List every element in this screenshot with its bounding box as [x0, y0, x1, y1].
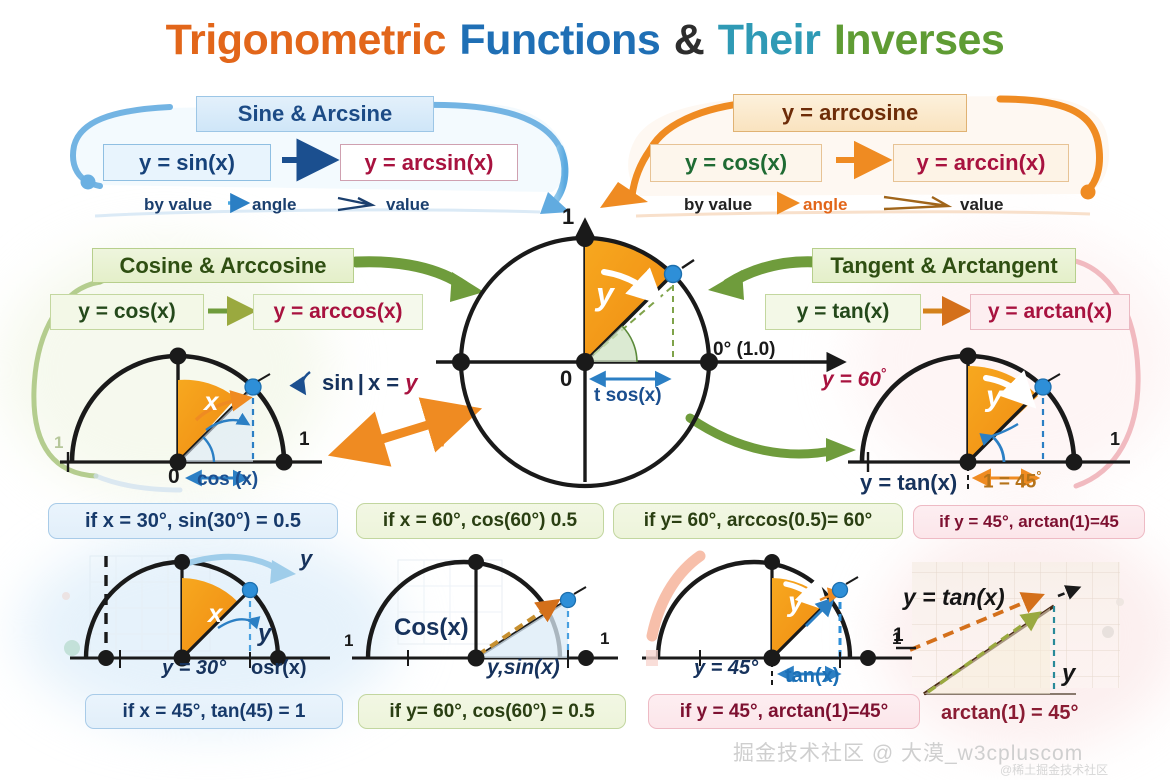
left-diagram-sector-label: x — [204, 388, 218, 414]
formula-pill-mid-2-label: if x = 60°, cos(60°) 0.5 — [383, 510, 577, 532]
bottom-d1-angle-text: y = 30° — [162, 657, 226, 679]
tangent-panel-header-label: Tangent & Arctangent — [830, 253, 1057, 279]
formula-pill-bottom-2-label: if y= 60°, cos(60°) = 0.5 — [389, 701, 594, 723]
formula-pill-mid-2[interactable]: if x = 60°, cos(60°) 0.5 — [356, 503, 604, 539]
cos-formula-label: y = cos(x) — [78, 300, 175, 324]
arccos-formula-box[interactable]: y = arccos(x) — [253, 294, 423, 330]
circle-right-label: 0° (1.0) — [713, 340, 776, 359]
circle-origin-label: 0 — [560, 368, 572, 390]
left-diagram-sin-equation: sin|x = y — [322, 372, 418, 394]
bottom-d3-tan-label: tan(x) — [785, 666, 839, 686]
watermark-secondary-text: @稀土掘金技术社区 — [1000, 763, 1108, 777]
circle-top-label-text: 1 — [562, 204, 574, 229]
left-diagram-sin-text: sin — [322, 370, 354, 395]
bottom-d4-arctan-text: arctan(1) = 45° — [941, 702, 1079, 724]
arccos-formula-label: y = arccos(x) — [274, 300, 403, 324]
watermark-secondary: @稀土掘金技术社区 — [1000, 761, 1108, 778]
bottom-d2-one-label: 1 — [600, 630, 609, 647]
bottom-d2-cos-label: Cos(x) — [394, 616, 469, 640]
left-diagram-origin-label: 0 — [168, 466, 180, 487]
left-diagram-left-text: 1 — [54, 433, 63, 452]
right-diagram-sector-text: y — [986, 380, 1003, 413]
bottom-d1-y-text: y — [258, 620, 271, 647]
formula-pill-bottom-3-label: if y = 45°, arctan(1)=45° — [680, 701, 888, 723]
circle-sector-label-text: y — [596, 276, 614, 312]
formula-pill-mid-3[interactable]: if y= 60°, arccos(0.5)= 60° — [613, 503, 903, 539]
bottom-d1-y-top-label: y — [300, 548, 312, 570]
formula-pill-mid-1-label: if x = 30°, sin(30°) = 0.5 — [85, 510, 301, 533]
bottom-d2-cos-text: Cos(x) — [394, 614, 469, 641]
tan-formula-label: y = tan(x) — [797, 300, 890, 324]
bottom-d3-tan-text: tan(x) — [785, 665, 839, 687]
right-diagram-angle-label: y = 60° — [822, 367, 887, 390]
bottom-d1-func-text: osr(x) — [251, 657, 307, 679]
bottom-d4-tan-text: y = tan(x) — [903, 584, 1005, 610]
bottom-d4-y-text: y — [1062, 660, 1075, 687]
cosine-panel-header: Cosine & Arccosine — [92, 248, 354, 283]
right-diagram-base-label: 1 = 45° — [983, 470, 1041, 491]
right-diagram-tan-text: y = tan(x) — [860, 470, 957, 495]
left-diagram-y-text: y — [405, 370, 417, 395]
formula-pill-bottom-1[interactable]: if x = 45°, tan(45) = 1 — [85, 694, 343, 729]
right-diagram-angle-text: y = 60 — [822, 368, 881, 391]
bottom-d3-angle-text: y = 45° — [694, 657, 758, 679]
left-diagram-cos-text: cos (x) — [197, 469, 258, 490]
bottom-d4-tan-label: y = tan(x) — [903, 586, 1005, 609]
circle-origin-label-text: 0 — [560, 366, 572, 391]
bottom-d1-sector-label: x — [208, 600, 222, 626]
bottom-d4-arctan-label: arctan(1) = 45° — [941, 703, 1079, 723]
bottom-d3-sector-text: y — [788, 586, 804, 617]
formula-pill-mid-1[interactable]: if x = 30°, sin(30°) = 0.5 — [48, 503, 338, 539]
right-diagram-tan-label: y = tan(x) — [860, 472, 957, 494]
cos-formula-box[interactable]: y = cos(x) — [50, 294, 204, 330]
left-diagram-origin-text: 0 — [168, 465, 180, 488]
bottom-d1-y-label: y — [258, 622, 271, 646]
bottom-d2-sin-text: y,sin(x) — [487, 656, 560, 679]
bottom-d1-one-text: 1 — [344, 631, 353, 650]
formula-pill-mid-4[interactable]: if y = 45°, arctan(1)=45 — [913, 505, 1145, 539]
left-diagram-right-text: 1 — [299, 429, 310, 450]
bottom-d1-one-label: 1 — [344, 632, 353, 649]
right-diagram-one-text: 1 — [1110, 429, 1120, 449]
bottom-d4-one-label: 1 — [893, 626, 904, 645]
bottom-d1-func-label: osr(x) — [251, 658, 307, 678]
formula-pill-mid-3-label: if y= 60°, arccos(0.5)= 60° — [644, 510, 873, 532]
formula-pill-bottom-1-label: if x = 45°, tan(45) = 1 — [123, 701, 306, 723]
bottom-d3-angle-label: y = 45° — [694, 658, 758, 678]
right-diagram-base-text: 1 = 45 — [983, 471, 1036, 492]
formula-pill-mid-4-label: if y = 45°, arctan(1)=45 — [939, 512, 1119, 532]
infographic-canvas: Trigonometric Functions & Their Inverses — [0, 0, 1170, 780]
left-diagram-x-equals-text: x = — [368, 370, 399, 395]
bottom-d3-sector-label: y — [788, 588, 804, 616]
left-diagram-right-label: 1 — [299, 430, 310, 449]
bottom-d1-angle-label: y = 30° — [162, 658, 226, 678]
formula-pill-bottom-3[interactable]: if y = 45°, arctan(1)=45° — [648, 694, 920, 729]
circle-cos-label: t sos(x) — [594, 386, 662, 405]
arctan-formula-box[interactable]: y = arctan(x) — [970, 294, 1130, 330]
tan-formula-box[interactable]: y = tan(x) — [765, 294, 921, 330]
right-diagram-sector-label: y — [986, 382, 1003, 412]
bottom-d4-y-label: y — [1062, 662, 1075, 686]
circle-sector-label: y — [596, 278, 614, 310]
formula-pill-bottom-2[interactable]: if y= 60°, cos(60°) = 0.5 — [358, 694, 626, 729]
circle-top-label: 1 — [562, 206, 574, 228]
bottom-d2-sin-label: y,sin(x) — [487, 657, 560, 678]
bottom-d1-y-top-text: y — [300, 546, 312, 571]
bottom-d4-one-text: 1 — [893, 625, 904, 646]
circle-cos-label-text: t sos(x) — [594, 385, 662, 406]
right-diagram-one-label: 1 — [1110, 430, 1120, 448]
tangent-panel-header: Tangent & Arctangent — [812, 248, 1076, 283]
left-diagram-left-label: 1 — [54, 434, 63, 451]
circle-right-label-text: 0° (1.0) — [713, 339, 776, 360]
bottom-d2-one-text: 1 — [600, 629, 609, 648]
left-diagram-sector-text: x — [204, 386, 218, 416]
cosine-panel-header-label: Cosine & Arccosine — [119, 253, 326, 279]
left-diagram-cos-label: cos (x) — [197, 470, 258, 489]
bottom-d1-sector-text: x — [208, 598, 222, 628]
arctan-formula-label: y = arctan(x) — [988, 300, 1112, 324]
